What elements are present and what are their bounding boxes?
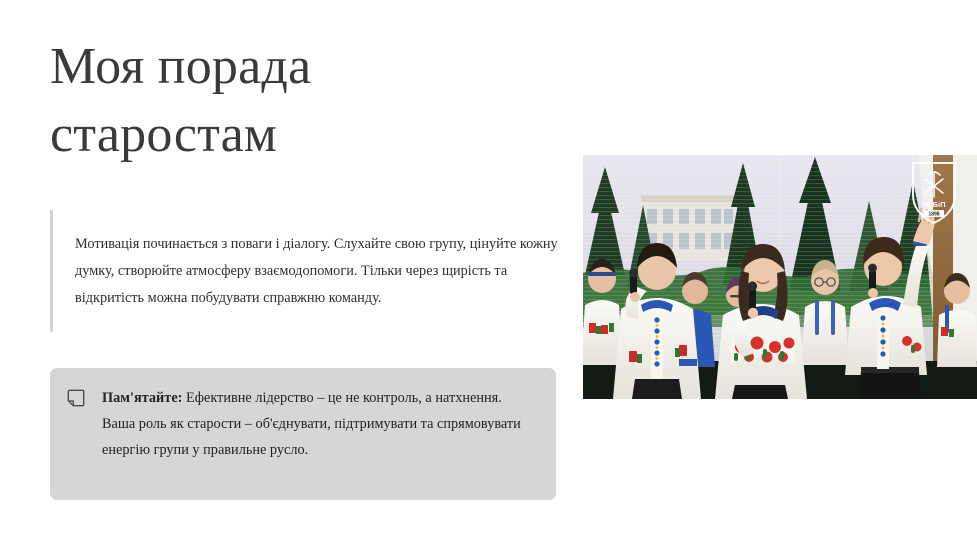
- callout-text: Пам'ятайте: Ефективне лідерство – це не …: [102, 385, 536, 463]
- sticky-note-icon: [67, 389, 85, 407]
- performance-photo: НУБіП 1898: [583, 155, 977, 399]
- callout-lead-label: Пам'ятайте:: [102, 390, 182, 406]
- left-accent-rule: [50, 210, 53, 332]
- slide-canvas: Моя порада старостам Мотивація починаєть…: [0, 0, 977, 544]
- remember-callout-box: Пам'ятайте: Ефективне лідерство – це не …: [50, 368, 556, 500]
- svg-text:1898: 1898: [928, 212, 939, 218]
- body-block: Мотивація починається з поваги і діалогу…: [50, 210, 570, 332]
- photo-illustration: НУБіП 1898: [583, 155, 977, 399]
- svg-text:НУБіП: НУБіП: [923, 200, 946, 209]
- page-title: Моя порада старостам: [50, 33, 520, 169]
- body-paragraph: Мотивація починається з поваги і діалогу…: [75, 210, 570, 332]
